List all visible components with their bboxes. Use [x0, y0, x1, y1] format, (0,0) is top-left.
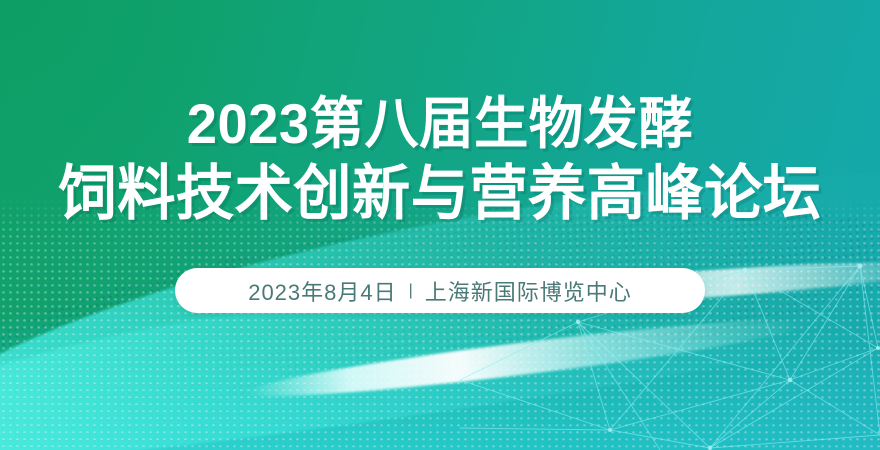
- banner-content: 2023第八届生物发酵 饲料技术创新与营养高峰论坛 2023年8月4日 | 上海…: [0, 0, 880, 450]
- event-date: 2023年8月4日: [248, 275, 396, 307]
- event-meta-pill: 2023年8月4日 | 上海新国际博览中心: [175, 268, 705, 313]
- banner-title-line-1: 2023第八届生物发酵: [13, 96, 867, 152]
- event-banner: 2023第八届生物发酵 饲料技术创新与营养高峰论坛 2023年8月4日 | 上海…: [0, 0, 880, 450]
- title-block: 2023第八届生物发酵 饲料技术创新与营养高峰论坛: [0, 96, 880, 224]
- banner-title-line-2: 饲料技术创新与营养高峰论坛: [13, 164, 867, 224]
- event-venue: 上海新国际博览中心: [425, 275, 632, 307]
- meta-separator: |: [409, 282, 413, 300]
